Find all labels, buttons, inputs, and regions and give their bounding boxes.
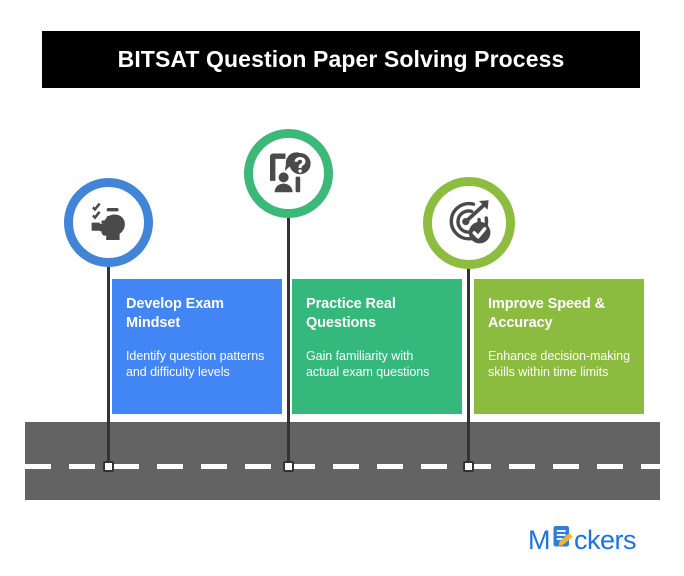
step-card-title: Develop Exam Mindset (126, 295, 268, 334)
step-card-1[interactable]: Develop Exam Mindset Identify question p… (112, 279, 282, 414)
step-icon-circle-3[interactable] (423, 177, 515, 269)
step-icon-circle-2[interactable] (244, 129, 333, 218)
title-banner: BITSAT Question Paper Solving Process (42, 31, 640, 88)
page-title: BITSAT Question Paper Solving Process (118, 46, 565, 73)
connector-stem-3 (467, 268, 470, 470)
step-card-2[interactable]: Practice Real Questions Gain familiarity… (292, 279, 462, 414)
document-pencil-icon (550, 524, 574, 557)
brand-logo[interactable]: M ckers (528, 524, 636, 556)
person-question-board-icon (264, 150, 314, 198)
road-surface (25, 422, 660, 500)
road-marker-dot-3 (463, 461, 474, 472)
road-lane-marking (25, 464, 660, 469)
infographic-canvas: BITSAT Question Paper Solving Process (0, 0, 684, 576)
brand-logo-text-after: ckers (574, 527, 636, 554)
checklist-head-icon (84, 200, 134, 246)
target-arrow-check-icon (443, 198, 495, 248)
step-card-title: Practice Real Questions (306, 295, 448, 334)
connector-stem-1 (107, 266, 110, 470)
step-icon-circle-1[interactable] (64, 178, 153, 267)
step-card-title: Improve Speed & Accuracy (488, 295, 630, 334)
step-card-description: Enhance decision-making skills within ti… (488, 348, 630, 382)
step-card-3[interactable]: Improve Speed & Accuracy Enhance decisio… (474, 279, 644, 414)
step-card-description: Identify question patterns and difficult… (126, 348, 268, 382)
step-card-description: Gain familiarity with actual exam questi… (306, 348, 448, 382)
road-marker-dot-1 (103, 461, 114, 472)
connector-stem-2 (287, 217, 290, 470)
brand-logo-text-before: M (528, 527, 550, 554)
road-marker-dot-2 (283, 461, 294, 472)
